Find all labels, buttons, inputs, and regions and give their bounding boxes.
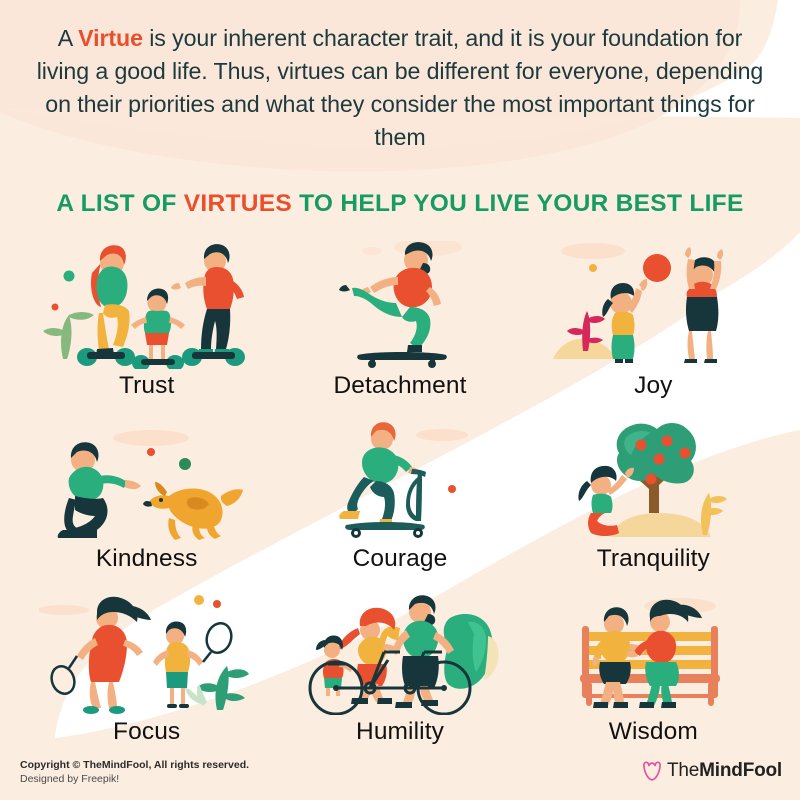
virtue-card-focus: Focus <box>20 574 273 747</box>
copyright-block: Copyright © TheMindFool, All rights rese… <box>20 758 249 786</box>
brand-wordmark: TheMindFool <box>667 760 782 782</box>
intro-highlight-virtue: Virtue <box>78 25 143 51</box>
designed-by-line: Designed by Freepik! <box>20 772 249 786</box>
virtue-card-wisdom: Wisdom <box>527 574 780 747</box>
virtue-card-humility: Humility <box>273 574 526 747</box>
intro-text-before: A <box>58 25 78 51</box>
page-title: A LIST OF VIRTUES TO HELP YOU LIVE YOUR … <box>0 190 800 218</box>
virtue-label: Detachment <box>333 371 466 401</box>
person-on-kick-scooter-illustration <box>273 414 526 542</box>
virtue-card-joy: Joy <box>527 228 780 401</box>
tulip-icon <box>641 760 663 782</box>
virtue-label: Humility <box>356 717 444 747</box>
man-on-skateboard-illustration <box>273 241 526 369</box>
footer: Copyright © TheMindFool, All rights rese… <box>0 748 800 800</box>
family-on-tandem-bicycle-illustration <box>273 587 526 715</box>
virtue-label: Joy <box>634 371 672 401</box>
two-people-sitting-on-bench-illustration <box>527 587 780 715</box>
headline-part-one: A LIST OF <box>56 190 183 217</box>
virtue-label: Focus <box>113 717 180 747</box>
brand-logo: TheMindFool <box>641 760 782 782</box>
infographic-poster: A Virtue is your inherent character trai… <box>0 0 800 800</box>
virtue-label: Wisdom <box>609 717 698 747</box>
brand-prefix: The <box>667 760 699 781</box>
virtue-card-kindness: Kindness <box>20 401 273 574</box>
intro-text-after: is your inherent character trait, and it… <box>37 25 763 150</box>
headline-highlight-virtues: VIRTUES <box>184 190 292 217</box>
woman-picking-apples-from-tree-illustration <box>527 414 780 542</box>
virtue-card-courage: Courage <box>273 401 526 574</box>
virtue-label: Tranquility <box>597 544 710 574</box>
virtue-label: Courage <box>353 544 448 574</box>
copyright-line: Copyright © TheMindFool, All rights rese… <box>20 758 249 772</box>
intro-paragraph: A Virtue is your inherent character trai… <box>30 22 770 154</box>
virtue-card-tranquility: Tranquility <box>527 401 780 574</box>
virtue-card-trust: Trust <box>20 228 273 401</box>
virtue-card-detachment: Detachment <box>273 228 526 401</box>
two-people-playing-ball-illustration <box>527 241 780 369</box>
family-on-hoverboards-illustration <box>20 241 273 369</box>
brand-suffix: MindFool <box>699 760 782 781</box>
headline-part-two: TO HELP YOU LIVE YOUR BEST LIFE <box>292 190 744 217</box>
virtues-grid: Trust <box>20 228 780 748</box>
virtue-label: Kindness <box>96 544 198 574</box>
man-playing-with-dog-illustration <box>20 414 273 542</box>
two-people-playing-badminton-illustration <box>20 587 273 715</box>
virtue-label: Trust <box>119 371 174 401</box>
